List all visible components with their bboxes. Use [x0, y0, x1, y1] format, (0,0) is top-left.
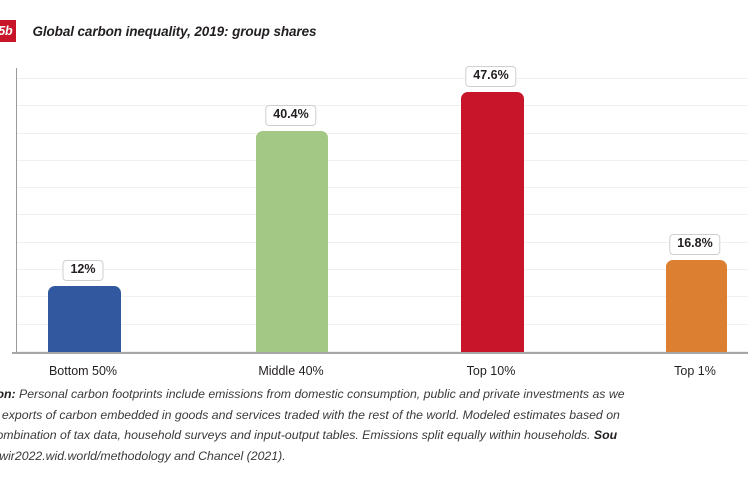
gridline: [17, 133, 748, 134]
gridline: [17, 78, 748, 79]
bar-value-label: 16.8%: [669, 234, 720, 255]
page-title: Global carbon inequality, 2019: group sh…: [32, 24, 316, 39]
bar-chart: 12%Bottom 50%40.4%Middle 40%47.6%Top 10%…: [0, 58, 748, 380]
notes-line-3: ic combination of tax data, household su…: [0, 425, 748, 446]
bar[interactable]: [461, 92, 524, 352]
x-axis-category-label: Bottom 50%: [49, 364, 117, 378]
notes-line-4-text: wir2022.wid.world/methodology and Chance…: [0, 449, 286, 463]
notes-line-2-text: and exports of carbon embedded in goods …: [0, 408, 620, 422]
notes-line-2: and exports of carbon embedded in goods …: [0, 405, 748, 426]
gridline: [17, 324, 748, 325]
bar-value-label: 40.4%: [265, 105, 316, 126]
notes-sources-label-start: Sou: [594, 428, 617, 442]
bar[interactable]: [666, 260, 727, 352]
bar[interactable]: [256, 131, 328, 352]
x-axis-category-label: Top 1%: [674, 364, 716, 378]
bar[interactable]: [48, 286, 121, 352]
gridline: [17, 105, 748, 106]
gridline: [17, 242, 748, 243]
x-axis-category-label: Middle 40%: [258, 364, 323, 378]
gridline: [17, 160, 748, 161]
figure-header: .5b Global carbon inequality, 2019: grou…: [0, 18, 316, 44]
gridline: [17, 214, 748, 215]
gridline: [17, 187, 748, 188]
notes-line-1: tation: Personal carbon footprints inclu…: [0, 384, 748, 405]
gridline: [17, 296, 748, 297]
bar-value-label: 12%: [62, 260, 103, 281]
x-axis-category-label: Top 10%: [467, 364, 516, 378]
x-axis-line: [12, 352, 748, 354]
figure-notes: tation: Personal carbon footprints inclu…: [0, 384, 748, 466]
bar-value-label: 47.6%: [465, 66, 516, 87]
notes-line-1-text: Personal carbon footprints include emiss…: [16, 387, 625, 401]
gridline: [17, 269, 748, 270]
figure-number-badge: .5b: [0, 20, 16, 43]
notes-line-4: es: wir2022.wid.world/methodology and Ch…: [0, 446, 748, 467]
notes-interpretation-label: tation:: [0, 387, 16, 401]
plot-area: [16, 68, 748, 352]
notes-line-3-text: ic combination of tax data, household su…: [0, 428, 594, 442]
